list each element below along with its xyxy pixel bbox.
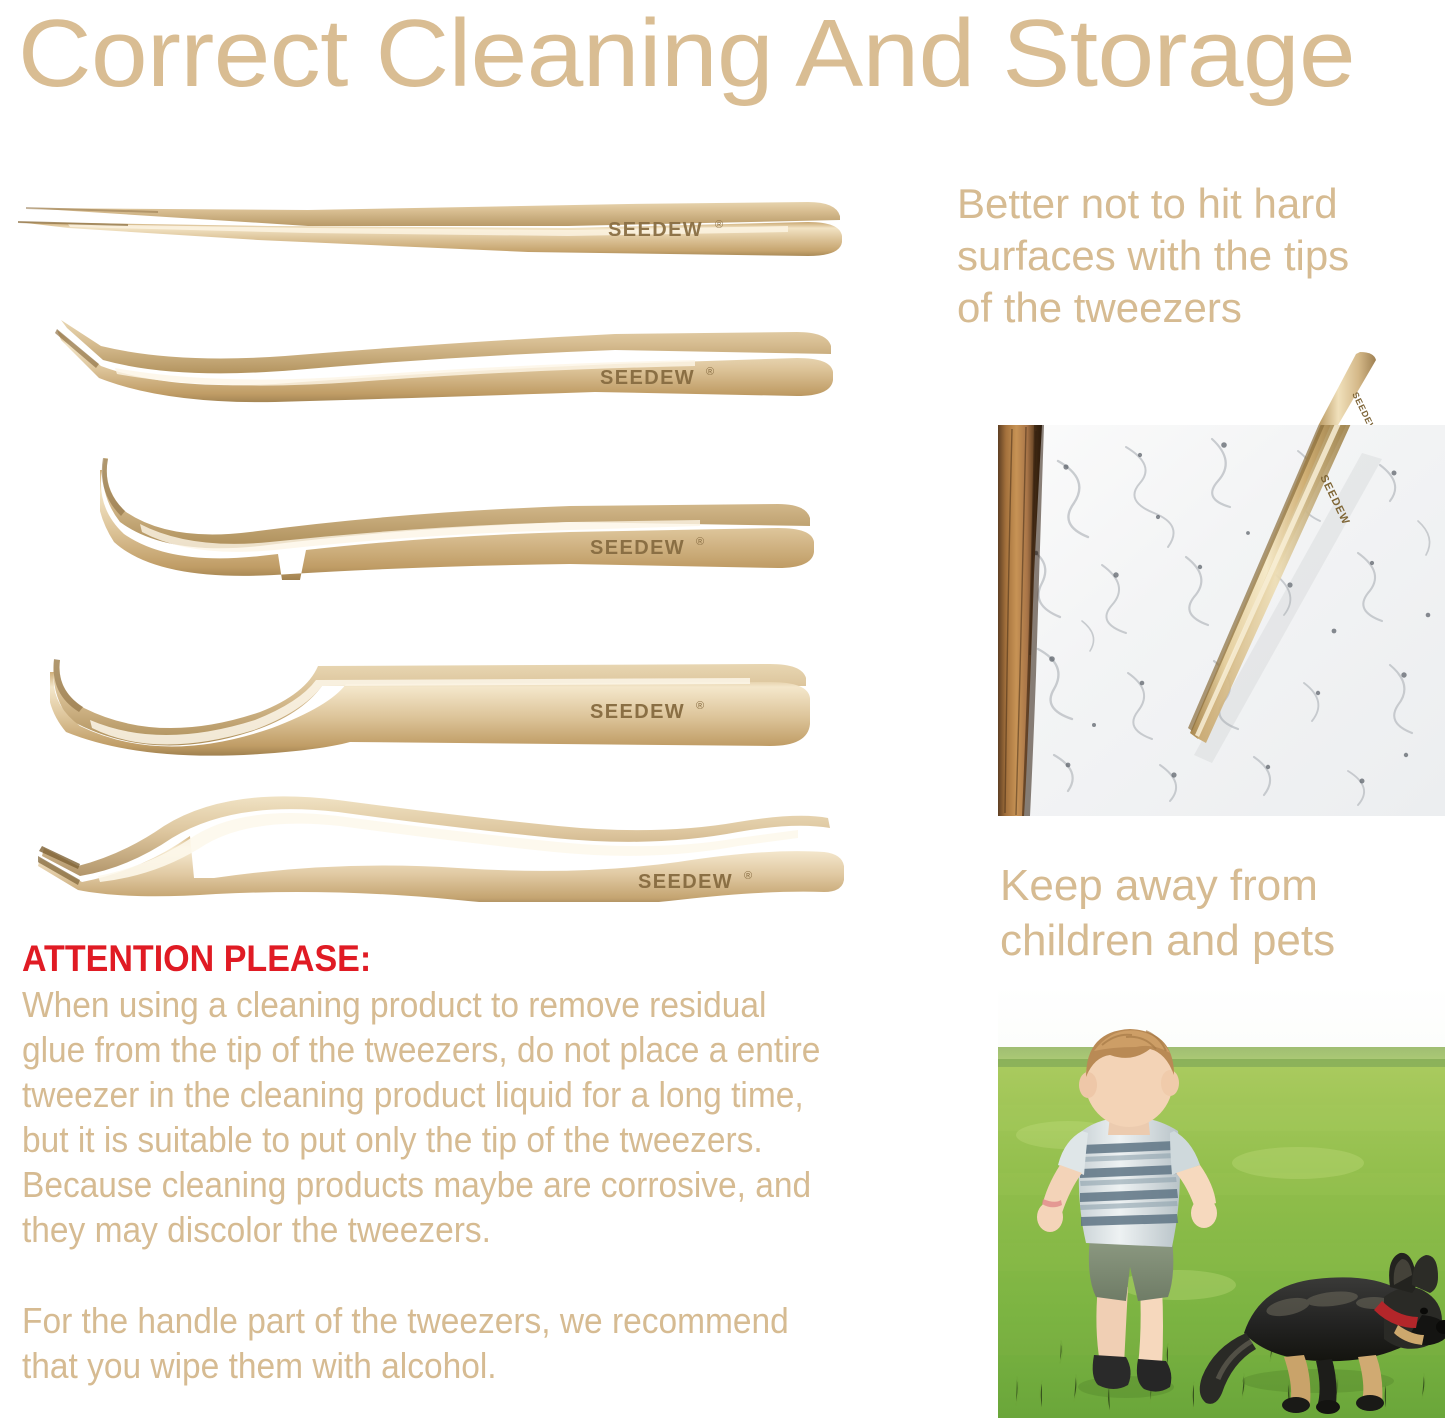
attention-paragraph-2: For the handle part of the tweezers, we … bbox=[22, 1298, 906, 1388]
product-curved-l-shape-tweezer: SEEDEW ® bbox=[50, 650, 860, 760]
callout-line: surfaces with the tips bbox=[957, 230, 1445, 282]
product-angled-45-degree-tweezer: SEEDEW ® bbox=[55, 312, 855, 407]
engraving-label: SEEDEW bbox=[600, 367, 695, 389]
paragraph-line: that you wipe them with alcohol. bbox=[22, 1343, 906, 1388]
svg-text:®: ® bbox=[715, 219, 723, 231]
page-title: Correct Cleaning And Storage bbox=[18, 4, 1445, 104]
marble-photo-tweezer-overhang: SEEDEW bbox=[1300, 352, 1390, 432]
svg-text:®: ® bbox=[706, 366, 714, 378]
engraving-label: SEEDEW bbox=[590, 537, 685, 559]
callout-line: Better not to hit hard bbox=[957, 178, 1445, 230]
svg-text:®: ® bbox=[744, 870, 752, 882]
attention-paragraph-1: When using a cleaning product to remove … bbox=[22, 982, 906, 1252]
paragraph-line: tweezer in the cleaning product liquid f… bbox=[22, 1072, 906, 1117]
engraving-label: SEEDEW bbox=[608, 219, 703, 241]
product-boot-s-curve-tweezer: SEEDEW ® bbox=[38, 782, 858, 902]
svg-text:®: ® bbox=[696, 700, 704, 712]
attention-heading: ATTENTION PLEASE: bbox=[22, 938, 896, 980]
callout-line: Keep away from bbox=[1000, 858, 1445, 913]
paragraph-line: When using a cleaning product to remove … bbox=[22, 982, 906, 1027]
callout-line: of the tweezers bbox=[957, 282, 1445, 334]
callout-hit-hard-surfaces: Better not to hit hard surfaces with the… bbox=[957, 178, 1445, 334]
tweezer-on-marble-surface-photo: SEEDEW bbox=[998, 425, 1445, 816]
product-straight-pointed-tweezer: SEEDEW ® bbox=[8, 186, 868, 264]
paragraph-line: glue from the tip of the tweezers, do no… bbox=[22, 1027, 906, 1072]
child-and-dog-in-field-photo bbox=[998, 985, 1445, 1418]
svg-text:®: ® bbox=[696, 536, 704, 548]
infographic-page: Correct Cleaning And Storage bbox=[0, 0, 1445, 1418]
callout-line: children and pets bbox=[1000, 913, 1445, 968]
attention-block: ATTENTION PLEASE: When using a cleaning … bbox=[22, 938, 972, 1388]
callout-keep-away: Keep away from children and pets bbox=[1000, 858, 1445, 968]
paragraph-line: Because cleaning products maybe are corr… bbox=[22, 1162, 906, 1207]
paragraph-line: but it is suitable to put only the tip o… bbox=[22, 1117, 906, 1162]
paragraph-line: For the handle part of the tweezers, we … bbox=[22, 1298, 906, 1343]
product-curved-hook-tweezer: SEEDEW ® bbox=[100, 450, 860, 590]
engraving-label: SEEDEW bbox=[638, 871, 733, 893]
paragraph-line: they may discolor the tweezers. bbox=[22, 1207, 906, 1252]
engraving-label: SEEDEW bbox=[590, 701, 685, 723]
